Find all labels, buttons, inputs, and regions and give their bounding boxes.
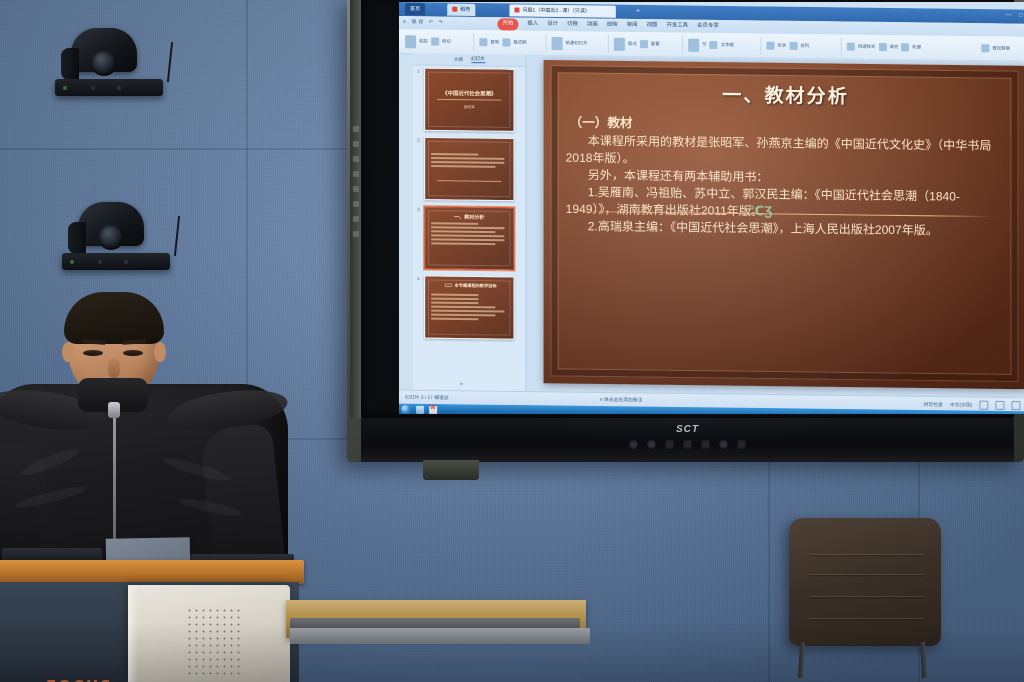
spellcheck-label[interactable]: 拼写检查 — [923, 401, 942, 408]
status-slide-counter: 幻灯片 3 / 17 蝶语丝 — [405, 394, 449, 402]
thumbnail-line — [431, 226, 504, 228]
thumbnail-line — [431, 298, 478, 300]
eraser-icon[interactable] — [353, 141, 359, 147]
screen-content[interactable]: 首页 稻壳 问题1（中国近2...课）（只读） + — □ ✕ ≡ 保存 ↶ ↷… — [399, 2, 1024, 414]
thumbnail-list[interactable]: 1 《中国近代社会思潮》 张昭军 2 — [413, 64, 525, 392]
ribbon-tab-transition[interactable]: 切换 — [567, 18, 578, 31]
ribbon-separator — [760, 37, 761, 55]
chair-stitch-line — [809, 554, 925, 555]
start-button-icon[interactable] — [401, 405, 411, 414]
ribbon-tab-slideshow[interactable]: 放映 — [607, 19, 618, 32]
new-tab-button[interactable]: + — [636, 8, 640, 15]
thumbnail-slide-1[interactable]: 1 《中国近代社会思潮》 张昭军 — [424, 68, 514, 132]
ribbon-tab-animation[interactable]: 动画 — [587, 18, 598, 31]
ribbon-tab-design[interactable]: 设计 — [547, 18, 558, 31]
view-reading-button[interactable] — [1011, 401, 1020, 410]
reset-icon[interactable] — [640, 40, 648, 48]
undo-icon[interactable] — [353, 186, 359, 192]
thumbnail-line — [431, 310, 504, 312]
thumbnail-line — [431, 302, 478, 304]
thumbnail-line — [431, 230, 495, 232]
arrange-icon[interactable] — [789, 42, 797, 50]
slide-thumbnail-panel[interactable]: 大纲 幻灯片 1 《中国近代社会思潮》 张昭军 — [413, 53, 526, 392]
ribbon-group-layout[interactable]: 版式 重置 — [614, 34, 660, 55]
cut-icon[interactable] — [431, 38, 439, 46]
eye-right — [123, 350, 143, 356]
ribbon-group-clipboard[interactable]: 粘贴 剪切 — [405, 31, 451, 52]
slide-paragraph-1[interactable]: 本课程所采用的教材是张昭军、孙燕京主编的《中国近代文化史》（中华书局2018年版… — [566, 133, 1006, 173]
paste-icon[interactable] — [405, 35, 416, 48]
display-wall-mount — [423, 460, 479, 480]
ribbon-group-shape[interactable]: 形状 排列 — [766, 36, 809, 57]
camera-lens-icon — [91, 50, 117, 76]
podium-desktop — [0, 560, 304, 584]
fill-icon[interactable] — [878, 43, 886, 51]
volume-up-icon[interactable] — [701, 440, 710, 449]
camera-arm — [68, 222, 86, 254]
quick-style-icon[interactable] — [847, 43, 855, 51]
camera-arm — [61, 48, 79, 80]
titlebar-tab-docer[interactable]: 稻壳 — [447, 4, 475, 16]
ribbon-tab-review[interactable]: 审阅 — [627, 19, 638, 32]
chair-stitch-line — [809, 596, 925, 597]
thumbnail-subtitle: 张昭军 — [425, 105, 513, 111]
taskbar-item-wps[interactable] — [429, 406, 437, 414]
ribbon-group-style[interactable]: 快速样式 填充 轮廓 — [847, 37, 921, 58]
keyboard-icon[interactable] — [353, 231, 359, 237]
thumbnail-text-lines — [431, 222, 507, 247]
display-bottom-bezel: SCT — [361, 418, 1014, 462]
slide-heading[interactable]: （一）教材 — [570, 112, 1006, 136]
thumbnail-number: 3 — [417, 207, 420, 212]
camera-cable — [174, 216, 180, 256]
add-slide-button[interactable]: + — [459, 381, 463, 388]
thumbnail-line — [431, 165, 495, 167]
floor-shadow — [0, 622, 1024, 682]
chair-stitch-line — [809, 574, 925, 575]
thumbnail-line — [431, 318, 478, 320]
ribbon-separator — [546, 34, 547, 52]
thumbnail-title: 《中国近代社会思潮》 — [425, 89, 513, 98]
ribbon-label-layout: 版式 — [628, 41, 637, 47]
taskbar-item-internet-explorer[interactable] — [416, 406, 424, 414]
panel-tab-slides[interactable]: 幻灯片 — [471, 56, 485, 63]
chair-stitch-line — [809, 618, 925, 619]
language-label[interactable]: 中文(中国) — [950, 401, 972, 408]
view-normal-button[interactable] — [979, 401, 988, 410]
ribbon-label-section: 节 — [702, 42, 706, 48]
slide-content[interactable]: 一、教材分析 （一）教材 本课程所采用的教材是张昭军、孙燕京主编的《中国近代文化… — [566, 78, 1006, 367]
ribbon-label-quick-style: 快速样式 — [858, 44, 876, 50]
section-icon[interactable] — [688, 38, 699, 51]
ribbon-tab-member[interactable]: 会员专享 — [697, 20, 719, 33]
ribbon-label-outline: 轮廓 — [912, 44, 921, 50]
ribbon-label-new-slide: 新建幻灯片 — [566, 40, 588, 46]
window-controls[interactable]: — □ ✕ — [1005, 11, 1024, 18]
ribbon-group-slide[interactable]: 新建幻灯片 — [552, 33, 588, 54]
ribbon-label-find: 查找替换 — [992, 45, 1010, 51]
display-side-toolbar[interactable] — [350, 0, 361, 418]
thumbnail-number: 4 — [417, 276, 420, 281]
ribbon-tab-developer[interactable]: 开发工具 — [666, 19, 688, 32]
ribbon-label-arrange: 排列 — [800, 43, 809, 49]
ribbon-label-copy: 复制 — [490, 39, 499, 45]
ribbon-separator — [682, 36, 683, 54]
thumbnail-line — [431, 294, 478, 296]
quick-access-toolbar[interactable]: ≡ 保存 ↶ ↷ — [403, 18, 445, 26]
thumbnail-line — [431, 161, 504, 163]
ribbon-tab-insert[interactable]: 插入 — [527, 18, 538, 31]
thumbnail-number: 2 — [417, 138, 420, 143]
textbox-icon[interactable] — [710, 41, 718, 49]
ribbon-group-find[interactable]: 查找替换 — [981, 38, 1010, 58]
titlebar-tab-label: 问题1（中国近2...课）（只读） — [522, 8, 590, 15]
ribbon-label-cut: 剪切 — [442, 39, 451, 45]
thumbnail-line — [431, 222, 478, 224]
display-button-row[interactable] — [361, 440, 1014, 449]
thumbnail-number: 1 — [417, 68, 420, 73]
ribbon-label-shape: 形状 — [778, 43, 787, 49]
ribbon-separator — [473, 33, 474, 51]
format-painter-icon[interactable] — [502, 38, 510, 46]
thumbnail-line — [431, 157, 504, 159]
thumbnail-line — [431, 306, 495, 308]
ribbon-tab-view[interactable]: 视图 — [647, 19, 658, 32]
thumbnail-line — [431, 238, 504, 240]
usb-port-icon[interactable] — [719, 440, 728, 449]
copy-icon[interactable] — [479, 38, 487, 46]
thumbnail-slide-4[interactable]: 4 （二）本专题课程的教学目标 — [424, 275, 514, 339]
slide-editing-stage[interactable]: 一、教材分析 （一）教材 本课程所采用的教材是张昭军、孙燕京主编的《中国近代文化… — [527, 55, 1024, 399]
source-icon[interactable] — [647, 440, 656, 449]
capture-icon[interactable] — [353, 201, 359, 207]
thumbnail-slide-2[interactable]: 2 — [424, 137, 514, 201]
shape-icon[interactable] — [766, 42, 774, 50]
titlebar-tab-document[interactable]: 问题1（中国近2...课）（只读） — [509, 4, 615, 17]
view-sorter-button[interactable] — [995, 401, 1004, 410]
titlebar-tab-home[interactable]: 首页 — [405, 3, 425, 15]
ribbon-label-format-painter: 格式刷 — [513, 40, 526, 46]
thumbnail-slide-3[interactable]: 3 一、教材分析 — [424, 206, 514, 270]
ribbon-label-textbox: 文本框 — [721, 42, 734, 48]
thumbnail-line — [431, 314, 495, 316]
thumbnail-line — [431, 153, 478, 155]
nose — [108, 358, 120, 378]
thumbnail-line — [431, 242, 495, 244]
slide-cursor-annotation: ℃Ʒ — [748, 203, 772, 219]
thumbnail-title: （二）本专题课程的教学目标 — [425, 282, 513, 289]
new-slide-icon[interactable] — [552, 36, 563, 49]
ribbon-label-fill: 填充 — [890, 44, 899, 50]
ptz-camera-upper — [55, 26, 175, 96]
camera-bracket — [55, 79, 163, 96]
hair — [64, 292, 164, 344]
camera-lens-icon — [98, 224, 124, 250]
ribbon-tab-start[interactable]: 开始 — [497, 18, 518, 30]
titlebar-tab-label: 稻壳 — [460, 7, 470, 13]
side-tool-icons[interactable] — [350, 126, 361, 237]
notes-placeholder[interactable]: ≡ 单击此处添加备注 — [600, 396, 643, 404]
jacket-zipper — [113, 404, 116, 554]
ribbon-separator — [608, 35, 609, 53]
ribbon-separator — [841, 38, 842, 56]
ear-left — [62, 342, 74, 362]
find-replace-icon[interactable] — [981, 44, 989, 52]
ribbon-label-reset: 重置 — [651, 41, 660, 47]
outline-icon[interactable] — [901, 43, 909, 51]
menu-icon[interactable] — [665, 440, 674, 449]
ear-right — [154, 342, 166, 362]
zipper-pull-icon — [108, 402, 120, 418]
slide-title[interactable]: 一、教材分析 — [566, 78, 1006, 110]
display-brand-label: SCT — [361, 424, 1014, 435]
display-panel: 首页 稻壳 问题1（中国近2...课）（只读） + — □ ✕ ≡ 保存 ↶ ↷… — [361, 0, 1014, 418]
ribbon-group-section[interactable]: 节 文本框 — [688, 35, 734, 56]
volume-down-icon[interactable] — [683, 440, 692, 449]
more-icon[interactable] — [353, 216, 359, 222]
panel-tab-outline[interactable]: 大纲 — [454, 56, 463, 62]
camera-bracket — [62, 253, 170, 270]
interactive-whiteboard[interactable]: 首页 稻壳 问题1（中国近2...课）（只读） + — □ ✕ ≡ 保存 ↶ ↷… — [347, 0, 1024, 462]
eye-left — [83, 350, 103, 356]
current-slide[interactable]: 一、教材分析 （一）教材 本课程所采用的教材是张昭军、孙燕京主编的《中国近代文化… — [544, 60, 1024, 389]
ribbon-label-paste: 粘贴 — [419, 38, 428, 44]
ptz-camera-lower — [62, 200, 182, 270]
home-icon[interactable] — [737, 440, 746, 449]
shape-icon[interactable] — [353, 156, 359, 162]
thumbnail-text-lines — [431, 294, 507, 323]
ribbon-group-copy[interactable]: 复制 格式刷 — [479, 32, 526, 53]
status-right-group[interactable]: 拼写检查 中文(中国) — [923, 400, 1024, 410]
pen-icon[interactable] — [353, 126, 359, 132]
thumbnail-text-lines — [431, 153, 507, 170]
ppt-file-icon — [514, 8, 519, 13]
camera-cable — [167, 42, 173, 82]
layout-icon[interactable] — [614, 37, 625, 50]
power-icon[interactable] — [629, 440, 638, 449]
thumbnail-title: 一、教材分析 — [425, 213, 513, 221]
select-icon[interactable] — [353, 171, 359, 177]
thumbnail-line — [431, 234, 504, 236]
docer-icon — [452, 7, 457, 12]
slide-paragraph-3[interactable]: 1.吴雁南、冯祖贻、苏中立、郭汉民主编：《中国近代社会思潮（1840-1949）… — [566, 184, 1006, 224]
classroom-scene: 首页 稻壳 问题1（中国近2...课）（只读） + — □ ✕ ≡ 保存 ↶ ↷… — [0, 0, 1024, 682]
